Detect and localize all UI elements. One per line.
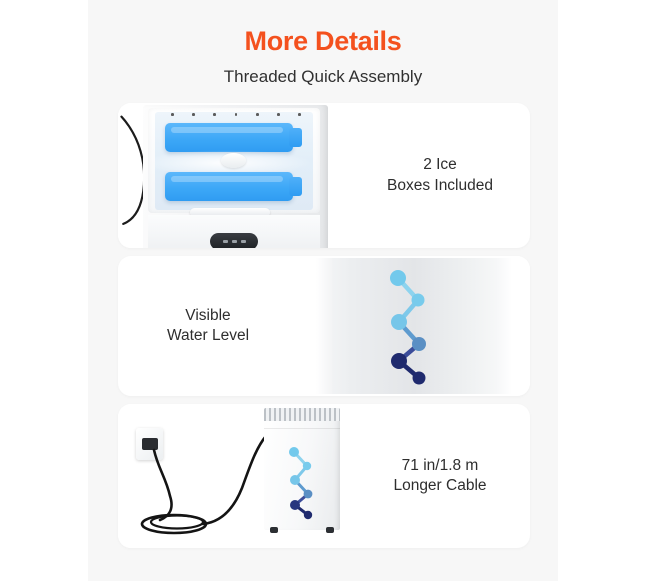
water-level-scene <box>298 256 530 396</box>
water-level-zigzag-icon <box>286 444 324 522</box>
dehumidifier-unit <box>264 408 340 530</box>
tank-edge-right <box>496 258 512 394</box>
feature-card-longer-cable: 71 in/1.8 m Longer Cable <box>118 404 530 548</box>
control-panel-display <box>210 233 258 248</box>
longer-cable-photo <box>118 404 350 548</box>
page-subtitle: Threaded Quick Assembly <box>88 57 558 87</box>
product-detail-page: More Details Threaded Quick Assembly <box>0 0 650 581</box>
longer-cable-scene <box>118 404 350 548</box>
feature-caption-longer-cable: 71 in/1.8 m Longer Cable <box>350 456 530 497</box>
caster-wheel-right <box>326 527 334 533</box>
unit-base <box>148 215 320 248</box>
feature-caption-ice-boxes: 2 Ice Boxes Included <box>350 155 530 196</box>
feature-card-ice-boxes: 2 Ice Boxes Included <box>118 103 530 248</box>
ice-box-bottom <box>165 172 293 201</box>
feature-card-water-level: Visible Water Level <box>118 256 530 396</box>
water-level-zigzag-icon <box>386 266 446 386</box>
water-level-photo <box>298 256 530 396</box>
ice-box-top <box>165 123 293 152</box>
vent-holes-icon <box>171 113 301 119</box>
caster-wheel-left <box>270 527 278 533</box>
unit-vent-grille <box>264 408 340 421</box>
ice-boxes-scene <box>118 103 350 248</box>
tank-knob <box>221 153 246 168</box>
content-panel: More Details Threaded Quick Assembly <box>88 0 558 581</box>
unit-panel-seam <box>264 428 340 429</box>
ice-boxes-photo <box>118 103 350 248</box>
tank-cavity <box>155 112 313 210</box>
dehumidifier-tank-unit <box>143 105 328 248</box>
tank-edge-left <box>316 258 332 394</box>
page-header: More Details Threaded Quick Assembly <box>88 0 558 88</box>
page-title: More Details <box>88 0 558 57</box>
feature-caption-water-level: Visible Water Level <box>118 306 298 347</box>
